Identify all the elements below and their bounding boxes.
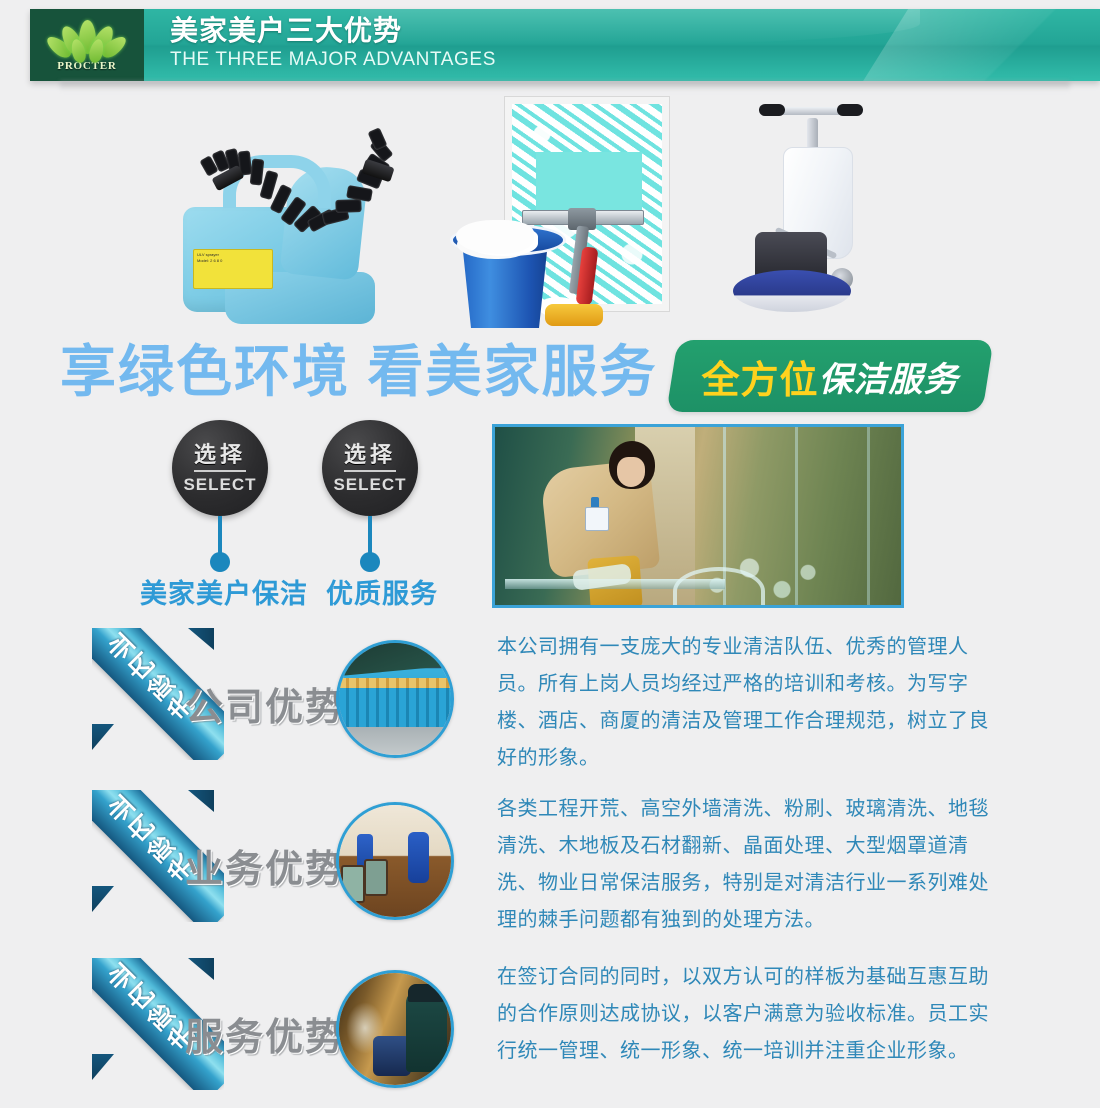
sprayer-spec-label: ULV sprayer Model: 2 6 8 0 — [193, 249, 273, 289]
connector-dot-2 — [360, 552, 380, 572]
sponge-icon — [545, 304, 603, 326]
advantage-photo-team — [336, 640, 454, 758]
header-title-group: 美家美户三大优势 THE THREE MAJOR ADVANTAGES — [170, 15, 496, 72]
select-cn-text-1: 选择 — [194, 442, 246, 472]
select-labels: 美家美户保洁优质服务 — [140, 572, 438, 611]
green-service-badge: 全方位 保洁服务 — [666, 340, 993, 412]
page-title: 美家美户三大优势 — [170, 15, 496, 47]
hero-photo-cleaner — [492, 424, 904, 608]
company-logo: PROCTER — [30, 9, 144, 81]
advantage-title-1: 公司优势 — [185, 676, 345, 731]
badge-rest-text: 保洁服务 — [819, 352, 959, 401]
advantage-row-service: 业内领先 服务优势 在签订合同的同时，以双方认可的样板为基础互惠互助的合作原则达… — [0, 958, 1100, 1108]
main-headline: 享绿色环境 看美家服务 — [60, 341, 658, 403]
product-image-floor-polisher — [715, 92, 905, 330]
select-label-2: 优质服务 — [326, 579, 438, 609]
sprayer-hose — [195, 127, 405, 242]
connector-dot-1 — [210, 552, 230, 572]
advantage-text-2: 各类工程开荒、高空外墙清洗、粉刷、玻璃清洗、地毯清洗、木地板及石材翻新、晶面处理… — [497, 790, 1009, 938]
polisher-pad — [733, 270, 851, 312]
select-circle-icon-1: 选择 SELECT — [172, 420, 268, 516]
advantage-row-company: 业内领先 公司优势 本公司拥有一支庞大的专业清洁队伍、优秀的管理人员。所有上岗人… — [0, 628, 1100, 778]
polisher-grip-left — [759, 104, 785, 116]
product-image-ulv-sprayer: ULV sprayer Model: 2 6 8 0 — [165, 97, 425, 327]
advantage-text-1: 本公司拥有一支庞大的专业清洁队伍、优秀的管理人员。所有上岗人员均经过严格的培训和… — [497, 628, 1009, 776]
page-header: PROCTER 美家美户三大优势 THE THREE MAJOR ADVANTA… — [30, 9, 1100, 81]
select-en-text-1: SELECT — [183, 475, 256, 495]
advantage-photo-fogger — [336, 970, 454, 1088]
leaves-icon — [50, 19, 124, 63]
advantage-row-business: 业内领先 业务优势 各类工程开荒、高空外墙清洗、粉刷、玻璃清洗、地毯清洗、木地板… — [0, 790, 1100, 940]
bucket-foam — [456, 220, 534, 254]
select-cn-text-2: 选择 — [344, 442, 396, 472]
badge-highlight-text: 全方位 — [701, 349, 818, 404]
product-image-window-cleaning — [450, 92, 690, 328]
hero-id-badge — [585, 507, 609, 531]
product-image-strip: ULV sprayer Model: 2 6 8 0 — [0, 92, 1100, 332]
page-root: PROCTER 美家美户三大优势 THE THREE MAJOR ADVANTA… — [0, 0, 1100, 1096]
advantage-text-3: 在签订合同的同时，以双方认可的样板为基础互惠互助的合作原则达成协议，以客户满意为… — [497, 958, 1009, 1069]
select-en-text-2: SELECT — [333, 475, 406, 495]
select-circle-icon-2: 选择 SELECT — [322, 420, 418, 516]
polisher-grip-right — [837, 104, 863, 116]
advantage-title-3: 服务优势 — [185, 1006, 345, 1061]
header-drop-shadow — [60, 81, 1070, 91]
advantage-photo-interior — [336, 802, 454, 920]
advantage-title-2: 业务优势 — [185, 838, 345, 893]
page-subtitle: THE THREE MAJOR ADVANTAGES — [170, 48, 496, 72]
select-label-1: 美家美户保洁 — [140, 579, 308, 609]
